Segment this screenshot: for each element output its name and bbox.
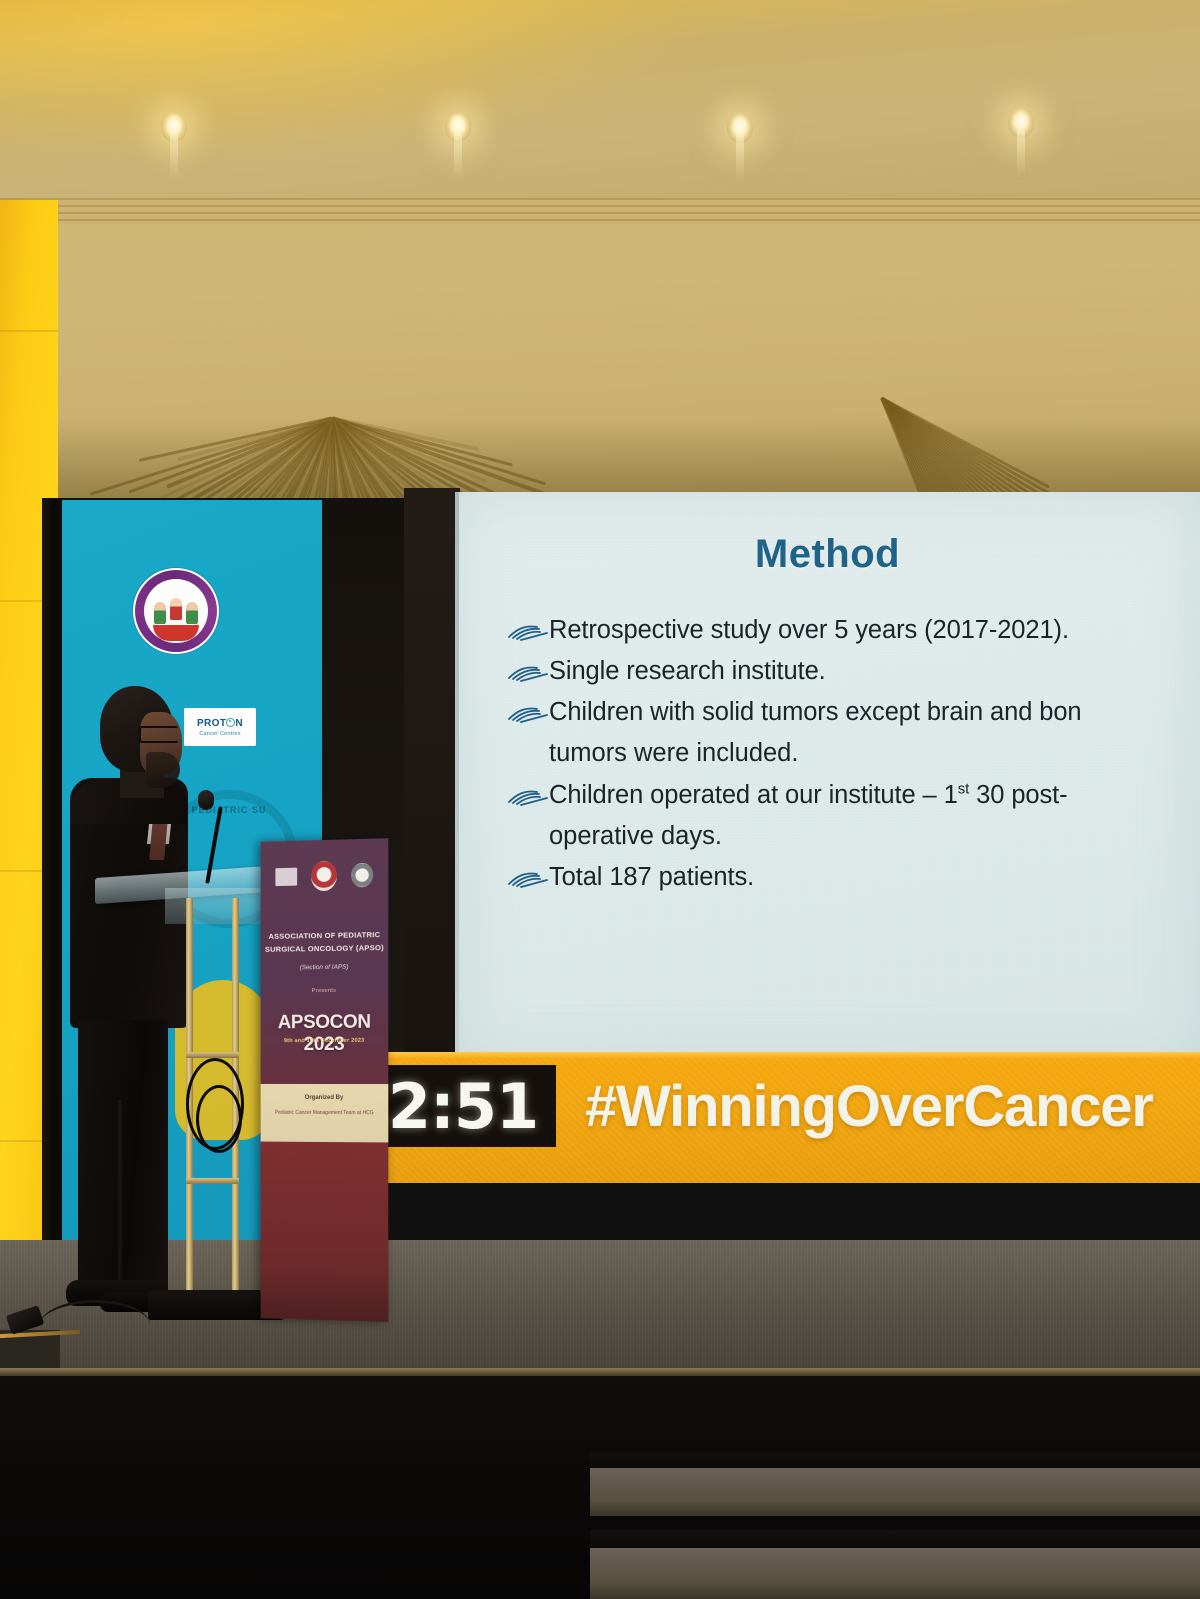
podium-logo-2-icon xyxy=(311,861,337,892)
podium-logo-3-icon xyxy=(351,863,373,888)
speaker-leg-split xyxy=(118,1100,122,1300)
podium-org-line1: ASSOCIATION OF PEDIATRICSURGICAL ONCOLOG… xyxy=(261,929,389,957)
ceiling-slat-panel xyxy=(0,198,1200,498)
proton-logo-subtext: Cancer Centres xyxy=(199,731,240,737)
bullet-text-continuation: tumors were included. xyxy=(549,737,1200,770)
bullet-superscript: st xyxy=(958,780,969,797)
podium-presents-label: Presents xyxy=(261,987,389,994)
stage-step-lower xyxy=(590,1545,1200,1599)
slide-bullet-group: Children with solid tumors except brain … xyxy=(507,696,1200,770)
stage-step-upper xyxy=(590,1466,1200,1516)
speaker-glasses xyxy=(139,726,179,743)
ceiling-shadow xyxy=(0,418,1200,498)
microphone-head-icon xyxy=(198,790,214,810)
bullet-feather-icon xyxy=(507,703,549,725)
slide-title: Method xyxy=(455,532,1200,577)
lectern-rail-lower xyxy=(186,1178,239,1184)
slide-bullet-item: Single research institute. xyxy=(507,655,1200,688)
bullet-text: Children operated at our institute – 1st… xyxy=(549,779,1068,812)
slide-bullet-item: Children with solid tumors except brain … xyxy=(507,696,1200,729)
bullet-feather-icon xyxy=(507,786,549,808)
bullet-feather-icon xyxy=(507,662,549,684)
bullet-feather-icon xyxy=(507,621,549,643)
black-vertical-post xyxy=(42,498,64,1338)
downlight-flare-4 xyxy=(1017,130,1025,176)
presentation-photo-scene: PROTN Cancer Centres OF PEDIATRIC SU Met… xyxy=(0,0,1200,1599)
countdown-timer-display: 2:51 xyxy=(370,1065,556,1147)
podium-organized-by: Pediatric Cancer Management Team at HCG xyxy=(261,1110,389,1117)
event-hashtag: #WinningOverCancer xyxy=(585,1073,1153,1140)
timer-value: 2:51 xyxy=(388,1070,538,1143)
slide-bullet-item: Children operated at our institute – 1st… xyxy=(507,779,1200,812)
bullet-text: Total 187 patients. xyxy=(549,861,754,894)
downlight-flare-2 xyxy=(454,134,462,180)
lectern-front-panel xyxy=(165,888,275,924)
podium-org-section: (Section of IAPS) xyxy=(261,963,389,972)
screen-left-dark-band xyxy=(404,488,460,1068)
bullet-text: Single research institute. xyxy=(549,655,826,688)
bullet-text: Children with solid tumors except brain … xyxy=(549,696,1082,729)
podium-lower-panel xyxy=(261,1142,389,1322)
bullet-text-tail: 30 post- xyxy=(969,781,1067,809)
projection-screen: Method Retrospective study over 5 years … xyxy=(455,492,1200,1070)
bullet-text: Retrospective study over 5 years (2017-2… xyxy=(549,614,1069,647)
slide-bullet-group: Children operated at our institute – 1st… xyxy=(507,779,1200,853)
bullet-feather-icon xyxy=(507,868,549,890)
podium-event-title: APSOCON 2023 xyxy=(261,1011,389,1056)
podium-banner: ASSOCIATION OF PEDIATRICSURGICAL ONCOLOG… xyxy=(261,838,389,1322)
podium-logo-1-icon xyxy=(275,868,297,886)
downlight-flare-1 xyxy=(170,134,178,180)
slide-bullet-list: Retrospective study over 5 years (2017-2… xyxy=(507,614,1200,902)
proton-logo-text: PROTN xyxy=(197,718,243,729)
bullet-text-main: Children operated at our institute – 1 xyxy=(549,781,958,809)
microphone-cable-loop-inner xyxy=(196,1085,242,1153)
screen-left-edge xyxy=(455,492,459,1070)
stage-step-riser-upper xyxy=(590,1452,1200,1468)
podium-event-date: 9th and 10th December 2023 xyxy=(261,1038,389,1045)
slide-bullet-item: Total 187 patients. xyxy=(507,861,1200,894)
slide-bullet-item: Retrospective study over 5 years (2017-2… xyxy=(507,614,1200,647)
apso-circular-logo xyxy=(133,568,219,654)
podium-logo-row xyxy=(261,852,389,899)
speaker-legs xyxy=(78,1020,168,1300)
downlight-flare-3 xyxy=(736,135,744,181)
bullet-text-continuation: operative days. xyxy=(549,820,1200,853)
podium-organized-label: Organized By xyxy=(261,1095,389,1101)
proton-cancer-centres-logo: PROTN Cancer Centres xyxy=(184,708,256,746)
ceiling-top-bars xyxy=(0,198,1200,224)
stage-step-riser-lower xyxy=(590,1530,1200,1548)
